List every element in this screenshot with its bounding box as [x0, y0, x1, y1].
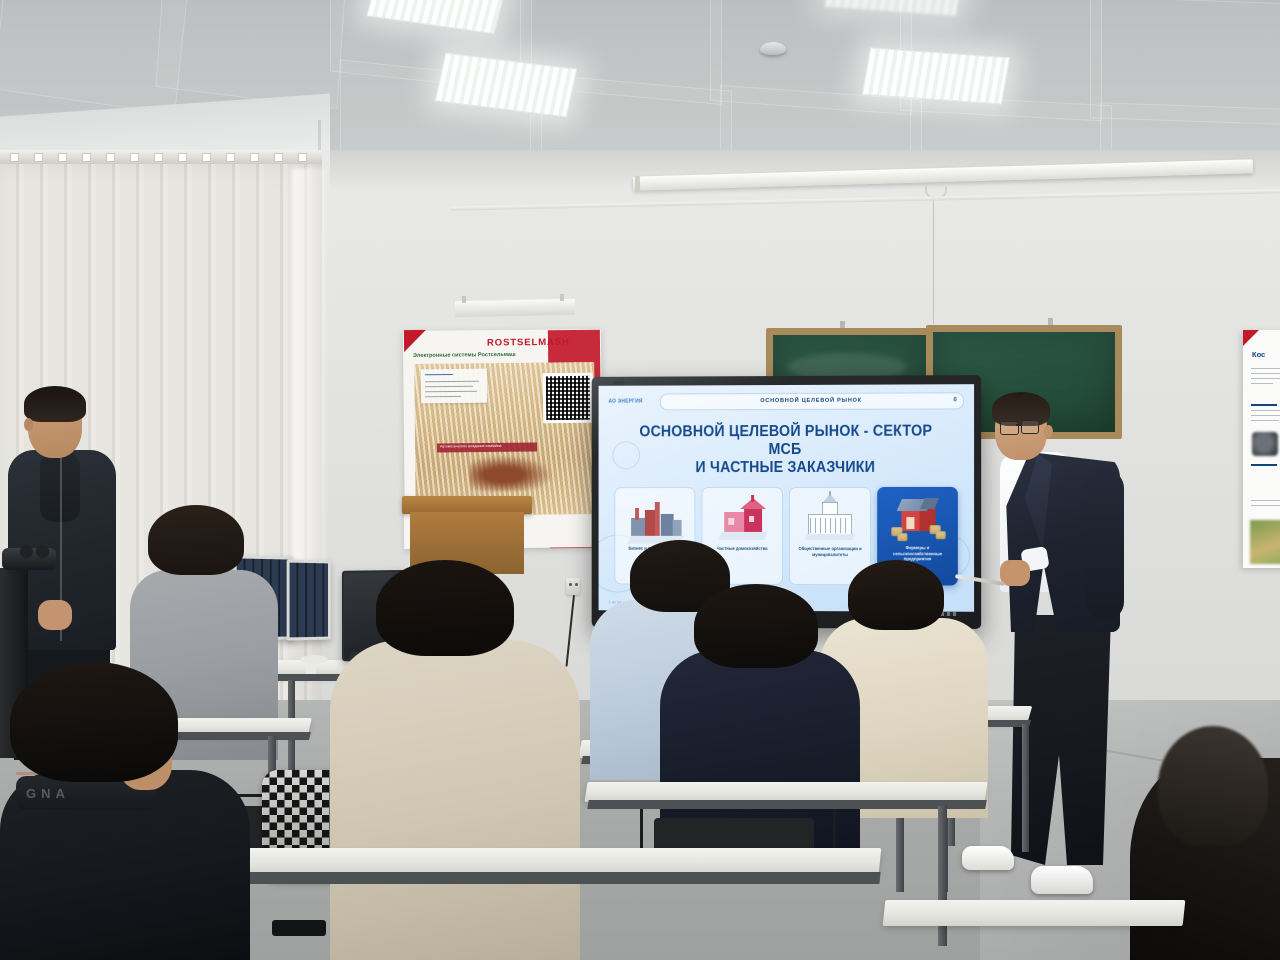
poster-info-card — [421, 369, 487, 404]
observer-hand — [38, 600, 72, 630]
pink-house-icon — [714, 494, 770, 546]
desk-accessory — [300, 655, 328, 664]
desk-edge — [201, 872, 880, 884]
student-front-beige — [330, 640, 580, 960]
slide-card-public[interactable]: Общественные организации и муниципалитет… — [789, 487, 871, 585]
display-camera-icon — [613, 381, 625, 385]
board-hook — [1048, 318, 1053, 325]
right-poster-illustration — [1252, 432, 1278, 456]
fixture-bracket — [462, 296, 466, 303]
slide-title-line-1: ОСНОВНОЙ ЦЕЛЕВОЙ РЫНОК - СЕКТОР МСБ — [630, 423, 942, 460]
card-caption: Частные домохозяйства — [713, 546, 772, 552]
power-outlet[interactable] — [566, 578, 580, 595]
tripod-knob — [20, 545, 33, 558]
slide-section-label: ОСНОВНОЙ ЦЕЛЕВОЙ РЫНОК — [760, 398, 862, 404]
presenter-arm — [1086, 470, 1124, 620]
desk — [584, 782, 987, 802]
slide-page-number: 6 — [953, 397, 956, 403]
student-hair — [848, 560, 944, 630]
slide-brand-logo: АО ЭНЕРГИЯ — [608, 399, 653, 405]
card-caption: Общественные организации и муниципалитет… — [790, 546, 870, 558]
screen-pull-cord[interactable] — [933, 196, 934, 324]
right-poster-corner-accent — [1243, 330, 1259, 346]
right-poster-photo — [1250, 520, 1280, 564]
student-hair — [10, 662, 178, 782]
student-hair — [148, 505, 244, 575]
qr-code-icon — [543, 373, 594, 424]
observer-ear — [24, 418, 33, 431]
tripod-knob — [36, 545, 49, 558]
ceiling-light-panel — [862, 47, 1010, 104]
red-barn-solar-icon — [889, 493, 945, 545]
slide-title-line-2: И ЧАСТНЫЕ ЗАКАЗЧИКИ — [630, 459, 942, 478]
presenter-shoe — [1031, 866, 1093, 894]
eyeglasses-bridge — [1016, 424, 1022, 426]
student-hair — [694, 584, 818, 668]
smartphone-on-desk[interactable] — [272, 920, 326, 936]
slide-section-chip: ОСНОВНОЙ ЦЕЛЕВОЙ РЫНОК 6 — [660, 392, 964, 410]
desk — [199, 848, 882, 874]
screen-bracket — [635, 176, 640, 192]
desk-accessory — [306, 666, 316, 674]
right-poster-title: Кос — [1252, 350, 1265, 359]
classroom-scene: ROSTSELMASH Электронные системы Ростсель… — [0, 0, 1280, 960]
desk — [883, 900, 1186, 926]
slide-title: ОСНОВНОЙ ЦЕЛЕВОЙ РЫНОК - СЕКТОР МСБ И ЧА… — [630, 423, 942, 478]
wall-light-fixture — [455, 299, 575, 318]
fixture-bracket — [560, 294, 564, 301]
jacket-collar-text: GNA — [26, 786, 70, 801]
outlet-hole — [569, 583, 572, 586]
slide-top-bar: АО ЭНЕРГИЯ ОСНОВНОЙ ЦЕЛЕВОЙ РЫНОК 6 — [608, 392, 964, 409]
government-building-icon — [802, 494, 858, 546]
outlet-hole — [575, 583, 578, 586]
smoke-detector-icon — [760, 42, 786, 55]
poster-machine-photo — [470, 455, 554, 492]
student-hair — [376, 560, 514, 656]
blind-rail — [0, 150, 322, 164]
board-hook — [840, 321, 845, 328]
presenter-ear — [1044, 425, 1053, 438]
student-head — [1158, 726, 1268, 846]
observer-hair — [24, 386, 86, 422]
eyeglasses-icon — [1021, 420, 1039, 434]
desk-leg — [1022, 724, 1029, 852]
industrial-plant-icon — [627, 494, 682, 546]
poster-brand-label: ROSTSELMASH — [487, 336, 602, 348]
desk-edge — [587, 800, 986, 809]
presenter-shoe — [962, 846, 1014, 870]
solar-panel — [287, 559, 331, 640]
poster-corner-accent — [404, 330, 426, 352]
